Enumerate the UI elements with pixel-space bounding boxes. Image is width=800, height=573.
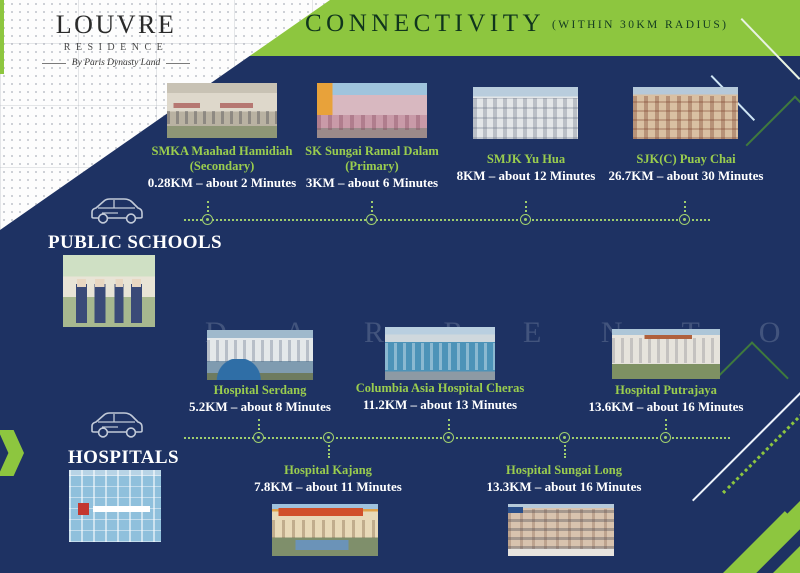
poi-distance: 5.2KM – about 8 Minutes — [170, 399, 350, 415]
hospitals-connector-line — [184, 437, 730, 439]
poi-distance: 7.8KM – about 11 Minutes — [238, 479, 418, 495]
hospital-putrajaya-photo — [612, 329, 720, 379]
poi-name: Hospital Putrajaya — [578, 383, 754, 398]
columbia-asia-cheras-photo — [385, 327, 495, 380]
poi-distance: 8KM – about 12 Minutes — [440, 168, 612, 184]
poi-hospital-above-0: Hospital Serdang 5.2KM – about 8 Minutes — [170, 383, 350, 415]
deco-left-chevron — [0, 430, 24, 476]
schools-node-0 — [202, 214, 213, 225]
hospitals-node-3 — [559, 432, 570, 443]
poi-name: SK Sungai Ramal Dalam — [282, 144, 462, 159]
schools-node-3 — [679, 214, 690, 225]
page-subtitle: (WITHIN 30KM RADIUS) — [552, 19, 728, 31]
deco-left-green-edge — [0, 0, 4, 74]
poi-school-2: SMJK Yu Hua 8KM – about 12 Minutes — [440, 152, 612, 184]
page-title: CONNECTIVITY — [305, 10, 545, 38]
sjkc-puay-chai-photo — [633, 87, 738, 139]
smjk-yu-hua-photo — [473, 87, 578, 139]
brand-logo: LOUVRE RESIDENCE By Paris Dynasty Land — [36, 12, 196, 68]
hospitals-node-4 — [660, 432, 671, 443]
poi-hospital-below-1: Hospital Sungai Long 13.3KM – about 16 M… — [474, 463, 654, 495]
poi-name: SMJK Yu Hua — [440, 152, 612, 167]
brand-rule: By Paris Dynasty Land — [36, 58, 196, 68]
poi-hospital-above-1: Columbia Asia Hospital Cheras 11.2KM – a… — [340, 381, 540, 413]
poi-hospital-below-0: Hospital Kajang 7.8KM – about 11 Minutes — [238, 463, 418, 495]
poi-distance: 3KM – about 6 Minutes — [282, 175, 462, 191]
poi-name: Columbia Asia Hospital Cheras — [340, 381, 540, 396]
poi-hospital-above-2: Hospital Putrajaya 13.6KM – about 16 Min… — [578, 383, 754, 415]
poi-school-1: SK Sungai Ramal Dalam (Primary) 3KM – ab… — [282, 144, 462, 191]
school-students-photo — [63, 255, 155, 327]
smka-maahad-hamidiah-photo — [167, 83, 277, 138]
connectivity-poster: D A R R E N T O H CONNECTIVITY (WITHIN 3… — [0, 0, 800, 573]
schools-node-2 — [520, 214, 531, 225]
poi-name: SJK(C) Puay Chai — [598, 152, 774, 167]
hospital-sungai-long-photo — [508, 504, 614, 556]
car-icon-schools — [88, 196, 146, 226]
poi-name: Hospital Sungai Long — [474, 463, 654, 478]
section-title-hospitals: HOSPITALS — [68, 447, 179, 469]
poi-school-3: SJK(C) Puay Chai 26.7KM – about 30 Minut… — [598, 152, 774, 184]
hospital-kajang-photo — [272, 504, 378, 556]
schools-connector-line — [184, 219, 710, 221]
poi-distance: 13.6KM – about 16 Minutes — [578, 399, 754, 415]
poi-name-2: (Primary) — [282, 159, 462, 174]
poi-distance: 13.3KM – about 16 Minutes — [474, 479, 654, 495]
brand-tagline: By Paris Dynasty Land — [72, 58, 160, 68]
rule-right — [166, 63, 190, 64]
rule-left — [42, 63, 66, 64]
hospital-serdang-photo — [207, 330, 313, 380]
car-icon-hospitals — [88, 410, 146, 440]
poi-name: Hospital Kajang — [238, 463, 418, 478]
sk-sungai-ramal-dalam-photo — [317, 83, 427, 138]
brand-name: LOUVRE — [36, 12, 196, 38]
hospitals-node-1 — [323, 432, 334, 443]
poi-distance: 11.2KM – about 13 Minutes — [340, 397, 540, 413]
poi-distance: 26.7KM – about 30 Minutes — [598, 168, 774, 184]
brand-subtitle: RESIDENCE — [36, 42, 196, 53]
schools-node-1 — [366, 214, 377, 225]
poi-name: Hospital Serdang — [170, 383, 350, 398]
hospitals-node-2 — [443, 432, 454, 443]
section-title-public-schools: PUBLIC SCHOOLS — [48, 232, 222, 254]
hospital-building-photo — [69, 470, 161, 542]
hospitals-node-0 — [253, 432, 264, 443]
